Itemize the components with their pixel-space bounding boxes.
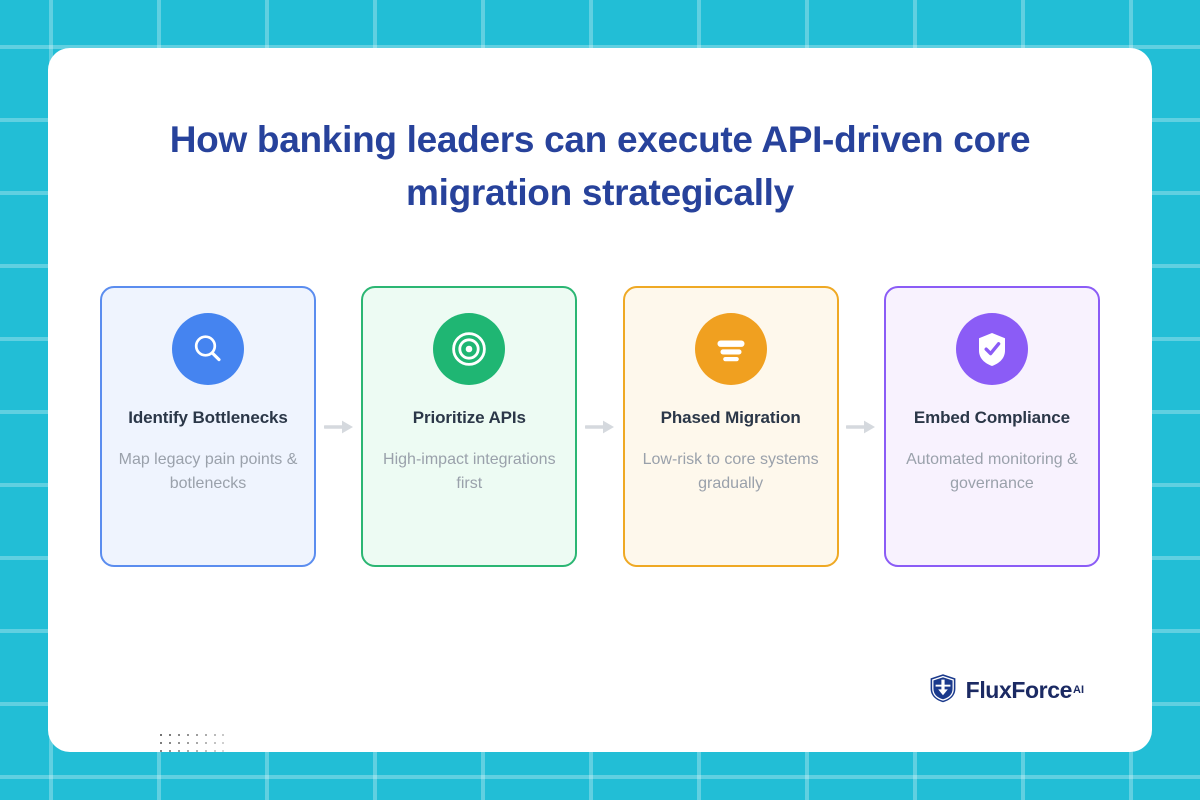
magnifier-icon <box>172 313 244 385</box>
step-card-phased-migration[interactable]: Phased Migration Low-risk to core system… <box>623 286 839 567</box>
step-card-identify-bottlenecks[interactable]: Identify Bottlenecks Map legacy pain poi… <box>100 286 316 567</box>
shield-check-icon <box>956 313 1028 385</box>
brand-superscript: AI <box>1073 685 1084 696</box>
arrow-right-icon <box>583 286 617 567</box>
layers-icon <box>695 313 767 385</box>
step-title: Prioritize APIs <box>413 406 526 429</box>
target-icon <box>433 313 505 385</box>
shield-download-icon <box>929 673 957 708</box>
step-description: Map legacy pain points & botlenecks <box>102 448 314 495</box>
step-title: Phased Migration <box>661 406 801 429</box>
step-title: Embed Compliance <box>914 406 1070 429</box>
content-panel: How banking leaders can execute API-driv… <box>48 48 1152 752</box>
step-card-prioritize-apis[interactable]: Prioritize APIs High-impact integrations… <box>361 286 577 567</box>
arrow-right-icon <box>322 286 356 567</box>
dot-grid-decoration <box>160 734 224 752</box>
process-steps-row: Identify Bottlenecks Map legacy pain poi… <box>100 286 1100 568</box>
brand-logo: FluxForce AI <box>929 673 1084 708</box>
brand-name: FluxForce <box>966 679 1072 702</box>
step-description: High-impact integrations first <box>363 448 575 495</box>
page-title: How banking leaders can execute API-driv… <box>138 114 1062 219</box>
arrow-right-icon <box>844 286 878 567</box>
step-title: Identify Bottlenecks <box>128 406 288 429</box>
step-description: Low-risk to core systems gradually <box>625 448 837 495</box>
step-description: Automated monitoring & governance <box>886 448 1098 495</box>
step-card-embed-compliance[interactable]: Embed Compliance Automated monitoring & … <box>884 286 1100 567</box>
infographic-canvas: How banking leaders can execute API-driv… <box>0 0 1200 800</box>
